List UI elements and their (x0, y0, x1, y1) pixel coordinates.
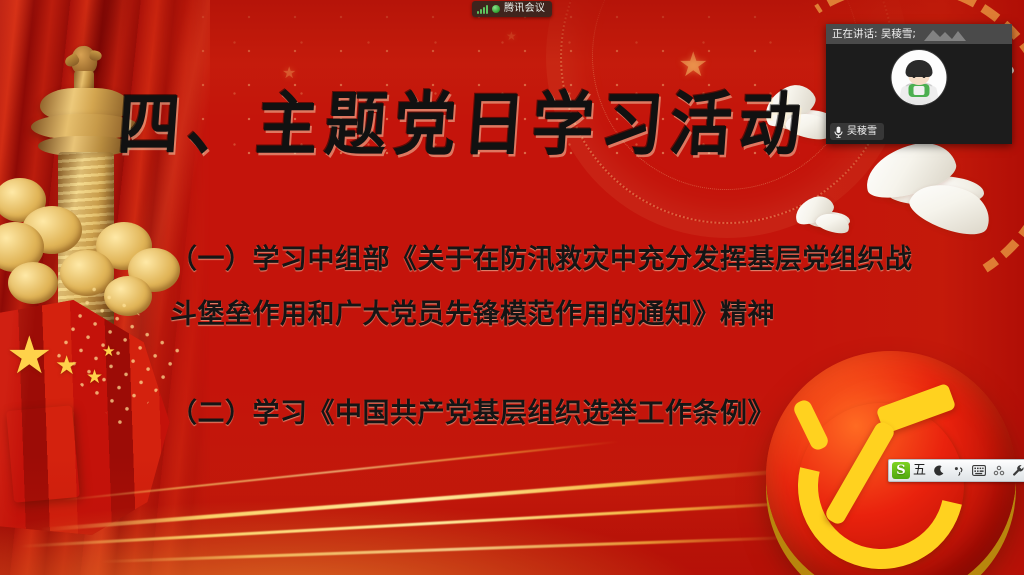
participant-nametag: 吴稜雪 (830, 123, 884, 140)
body-line: 斗堡垒作用和广大党员先锋模范作用的通知》精神 (170, 287, 910, 342)
green-status-dot-icon (492, 5, 500, 13)
input-mode-button[interactable]: 五 (911, 464, 928, 477)
cartoon-avatar-icon (892, 50, 947, 105)
dove-icon (792, 196, 858, 236)
gold-cloud-decor (8, 262, 58, 304)
moon-mode-button[interactable] (929, 462, 948, 479)
speaking-status-label: 正在讲话: 吴稜雪; (832, 29, 916, 40)
toolbox-button[interactable] (989, 462, 1008, 479)
wrench-icon (1012, 464, 1024, 477)
flag-star-large: ★ (6, 330, 53, 382)
page-title: 四、主题党日学习活动 (115, 88, 850, 161)
video-panel[interactable]: 正在讲话: 吴稜雪; (826, 24, 1012, 144)
flag-star-small: ★ (102, 344, 115, 359)
toolbox-icon (993, 465, 1005, 477)
participant-name-label: 吴稜雪 (847, 127, 877, 137)
tone-mark-icon (953, 465, 965, 477)
keyboard-icon (972, 465, 986, 476)
flag-star-small: ★ (55, 352, 78, 378)
settings-wrench-button[interactable] (1009, 462, 1024, 479)
tencent-meeting-label: 腾讯会议 (504, 4, 545, 14)
dove-icon (858, 142, 1008, 238)
body-spacer (170, 342, 910, 386)
screen: ★ ★ ★ ★ ★ ★ ★ (0, 0, 1024, 575)
sogou-ime-toolbar[interactable]: S 五 (888, 459, 1024, 482)
microphone-icon (834, 126, 843, 138)
flag-star-small: ★ (86, 368, 103, 387)
body-line: （二）学习《中国共产党基层组织选举工作条例》 (170, 386, 910, 441)
video-panel-header: 正在讲话: 吴稜雪; (826, 24, 1012, 44)
signal-bars-icon (477, 5, 488, 14)
body-line: （一）学习中组部《关于在防汛救灾中充分发挥基层党组织战 (170, 232, 910, 287)
mountains-watermark-icon (924, 28, 966, 41)
tencent-meeting-float-bar[interactable]: 腾讯会议 (472, 1, 552, 17)
video-panel-stage[interactable]: 吴稜雪 (826, 44, 1012, 144)
moon-icon (933, 465, 945, 477)
tone-button[interactable] (949, 462, 968, 479)
slide-body: （一）学习中组部《关于在防汛救灾中充分发挥基层党组织战 斗堡垒作用和广大党员先锋… (170, 232, 910, 441)
sogou-logo-button[interactable]: S (892, 462, 910, 479)
soft-keyboard-button[interactable] (969, 462, 988, 479)
